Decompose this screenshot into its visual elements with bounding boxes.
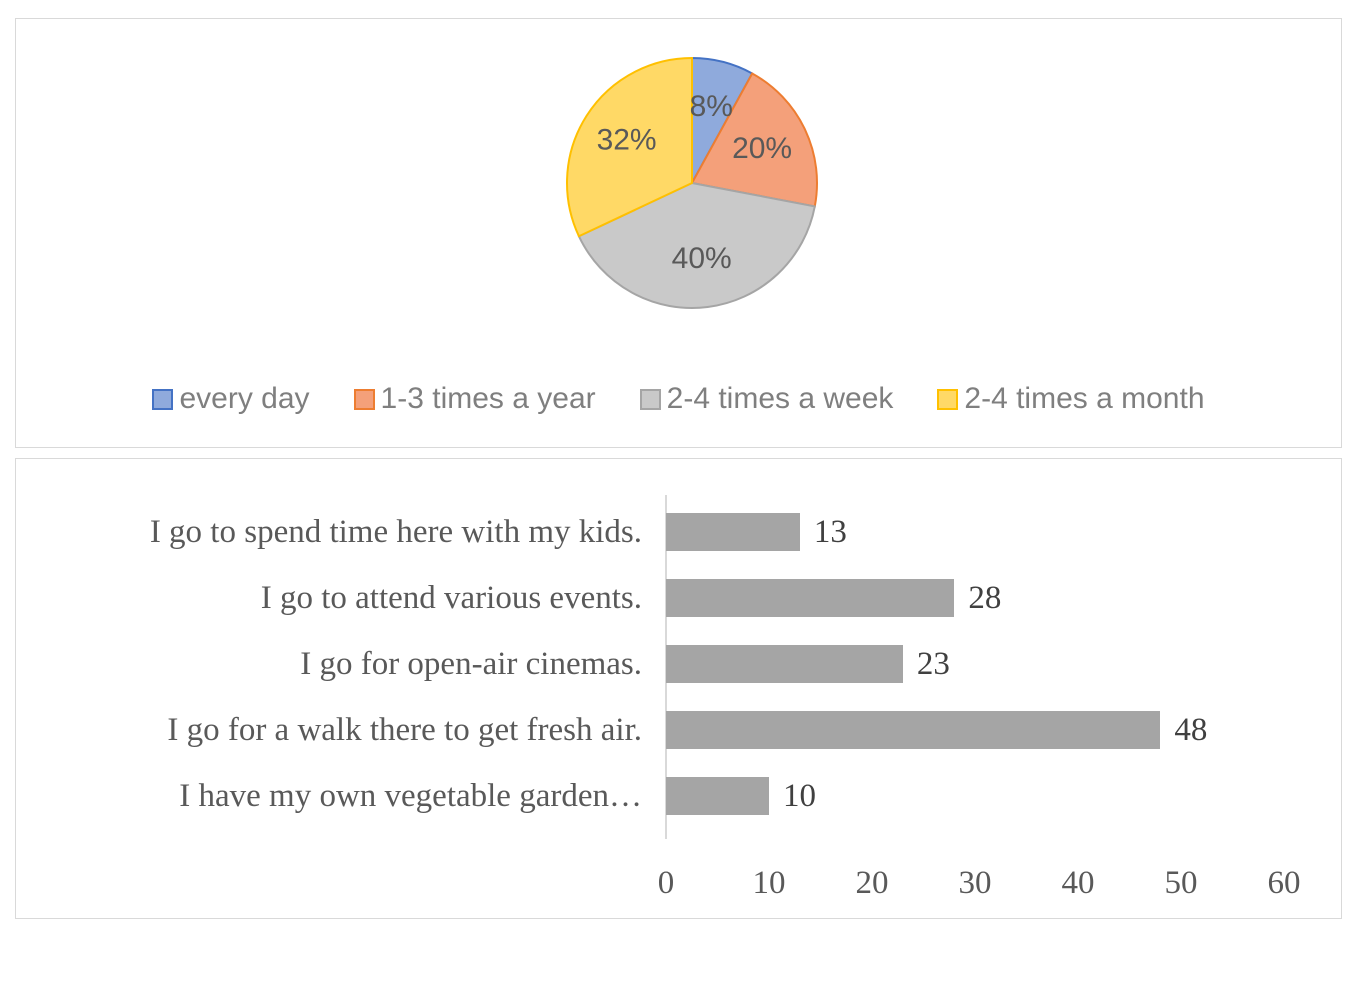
pie-chart-legend: every day 1-3 times a year 2-4 times a w… <box>16 369 1341 429</box>
bar-rect[interactable] <box>666 777 769 815</box>
x-axis-tick-label: 50 <box>1165 867 1198 900</box>
bar-value-label: 48 <box>1174 714 1207 747</box>
pie-chart-area: 8% 20% 40% 32% <box>16 19 1341 349</box>
x-axis-tick-label: 10 <box>753 867 786 900</box>
bar-chart-panel: I go to spend time here with my kids. I … <box>15 458 1342 919</box>
bar-value-label: 28 <box>968 582 1001 615</box>
legend-label-2-4-times-a-week: 2-4 times a week <box>667 384 894 414</box>
bar-category-label: I go for a walk there to get fresh air. <box>16 714 642 747</box>
x-axis-tick-label: 60 <box>1268 867 1301 900</box>
x-axis-tick-label: 30 <box>959 867 992 900</box>
pie-data-label-2-4-times-a-week: 40% <box>672 242 732 275</box>
legend-swatch-every-day <box>152 389 173 410</box>
bar-value-label: 13 <box>814 516 847 549</box>
bar-chart-area: I go to spend time here with my kids. I … <box>16 459 1341 918</box>
pie-data-label-2-4-times-a-month: 32% <box>597 123 657 156</box>
x-axis-tick-label: 0 <box>658 867 675 900</box>
legend-item-1-3-times-a-year[interactable]: 1-3 times a year <box>354 384 596 414</box>
legend-label-every-day: every day <box>179 384 309 414</box>
bar-rect[interactable] <box>666 711 1160 749</box>
legend-swatch-2-4-times-a-week <box>640 389 661 410</box>
bar-category-label: I go to spend time here with my kids. <box>16 516 642 549</box>
bar-category-label: I go to attend various events. <box>16 582 642 615</box>
legend-label-1-3-times-a-year: 1-3 times a year <box>381 384 596 414</box>
bar-value-label: 23 <box>917 648 950 681</box>
x-axis-tick-label: 40 <box>1062 867 1095 900</box>
legend-item-2-4-times-a-week[interactable]: 2-4 times a week <box>640 384 894 414</box>
bar-rect[interactable] <box>666 645 903 683</box>
legend-swatch-1-3-times-a-year <box>354 389 375 410</box>
bar-rect[interactable] <box>666 579 954 617</box>
bar-category-label: I go for open-air cinemas. <box>16 648 642 681</box>
legend-item-every-day[interactable]: every day <box>152 384 309 414</box>
legend-label-2-4-times-a-month: 2-4 times a month <box>964 384 1204 414</box>
pie-chart-panel: 8% 20% 40% 32% every day 1-3 times a yea… <box>15 18 1342 448</box>
bar-value-label: 10 <box>783 780 816 813</box>
bar-rect[interactable] <box>666 513 800 551</box>
legend-item-2-4-times-a-month[interactable]: 2-4 times a month <box>937 384 1204 414</box>
pie-data-label-every-day: 8% <box>690 90 733 123</box>
pie-chart-graphic: 8% 20% 40% 32% <box>552 43 832 323</box>
legend-swatch-2-4-times-a-month <box>937 389 958 410</box>
pie-data-label-1-3-times-a-year: 20% <box>732 132 792 165</box>
bar-category-label: I have my own vegetable garden… <box>16 780 642 813</box>
x-axis-tick-label: 20 <box>856 867 889 900</box>
